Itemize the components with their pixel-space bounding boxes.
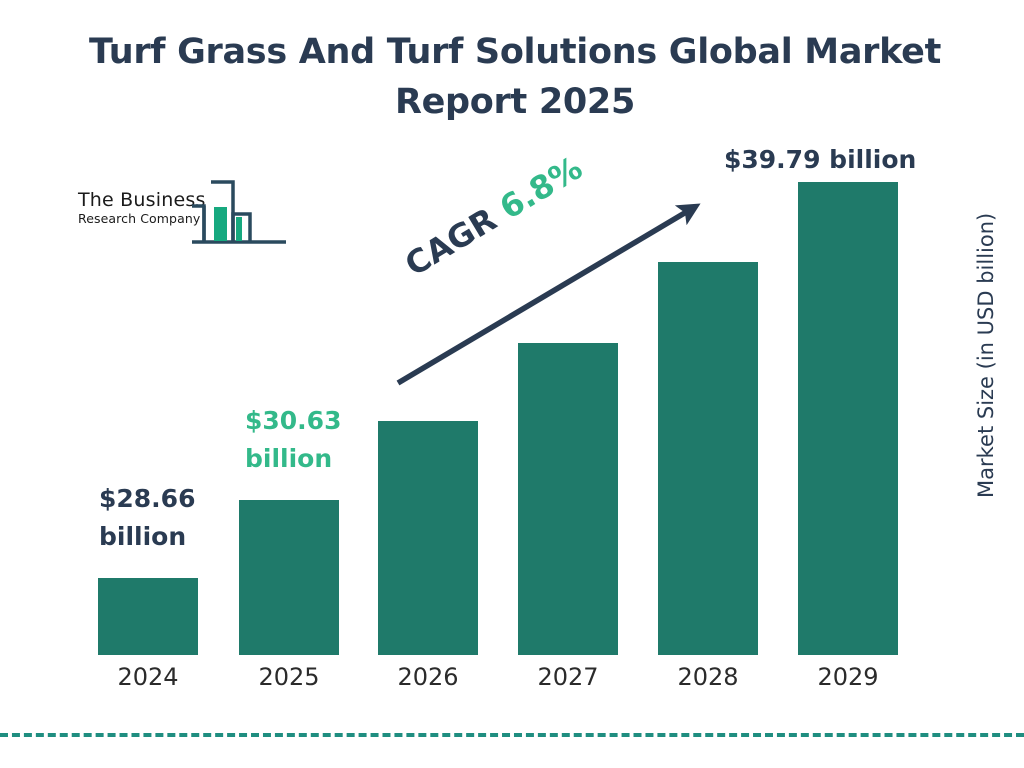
x-tick-2026: 2026 xyxy=(378,662,478,692)
growth-arrow-icon xyxy=(380,185,720,404)
company-logo: The Business Research Company xyxy=(76,176,286,248)
value-label-2025: $30.63 billion xyxy=(245,402,375,478)
y-axis-label: Market Size (in USD billion) xyxy=(973,218,999,498)
x-tick-2028: 2028 xyxy=(658,662,758,692)
bar-chart-logo-mark-icon xyxy=(192,176,286,252)
page-title: Turf Grass And Turf Solutions Global Mar… xyxy=(70,27,960,127)
x-tick-2025: 2025 xyxy=(239,662,339,692)
x-tick-2029: 2029 xyxy=(798,662,898,692)
bar-2025 xyxy=(239,500,339,655)
footer-divider xyxy=(0,733,1024,737)
value-label-2029: $39.79 billion xyxy=(724,141,974,179)
value-label-2025-line1: $30.63 xyxy=(245,402,375,440)
chart-canvas: Turf Grass And Turf Solutions Global Mar… xyxy=(0,0,1024,768)
value-label-2024-line2: billion xyxy=(99,518,229,556)
bar-2026 xyxy=(378,421,478,655)
x-tick-2024: 2024 xyxy=(98,662,198,692)
value-label-2024: $28.66 billion xyxy=(99,480,229,556)
x-tick-2027: 2027 xyxy=(518,662,618,692)
bar-2024 xyxy=(98,578,198,655)
value-label-2025-line2: billion xyxy=(245,440,375,478)
value-label-2024-line1: $28.66 xyxy=(99,480,229,518)
bar-2029 xyxy=(798,182,898,655)
